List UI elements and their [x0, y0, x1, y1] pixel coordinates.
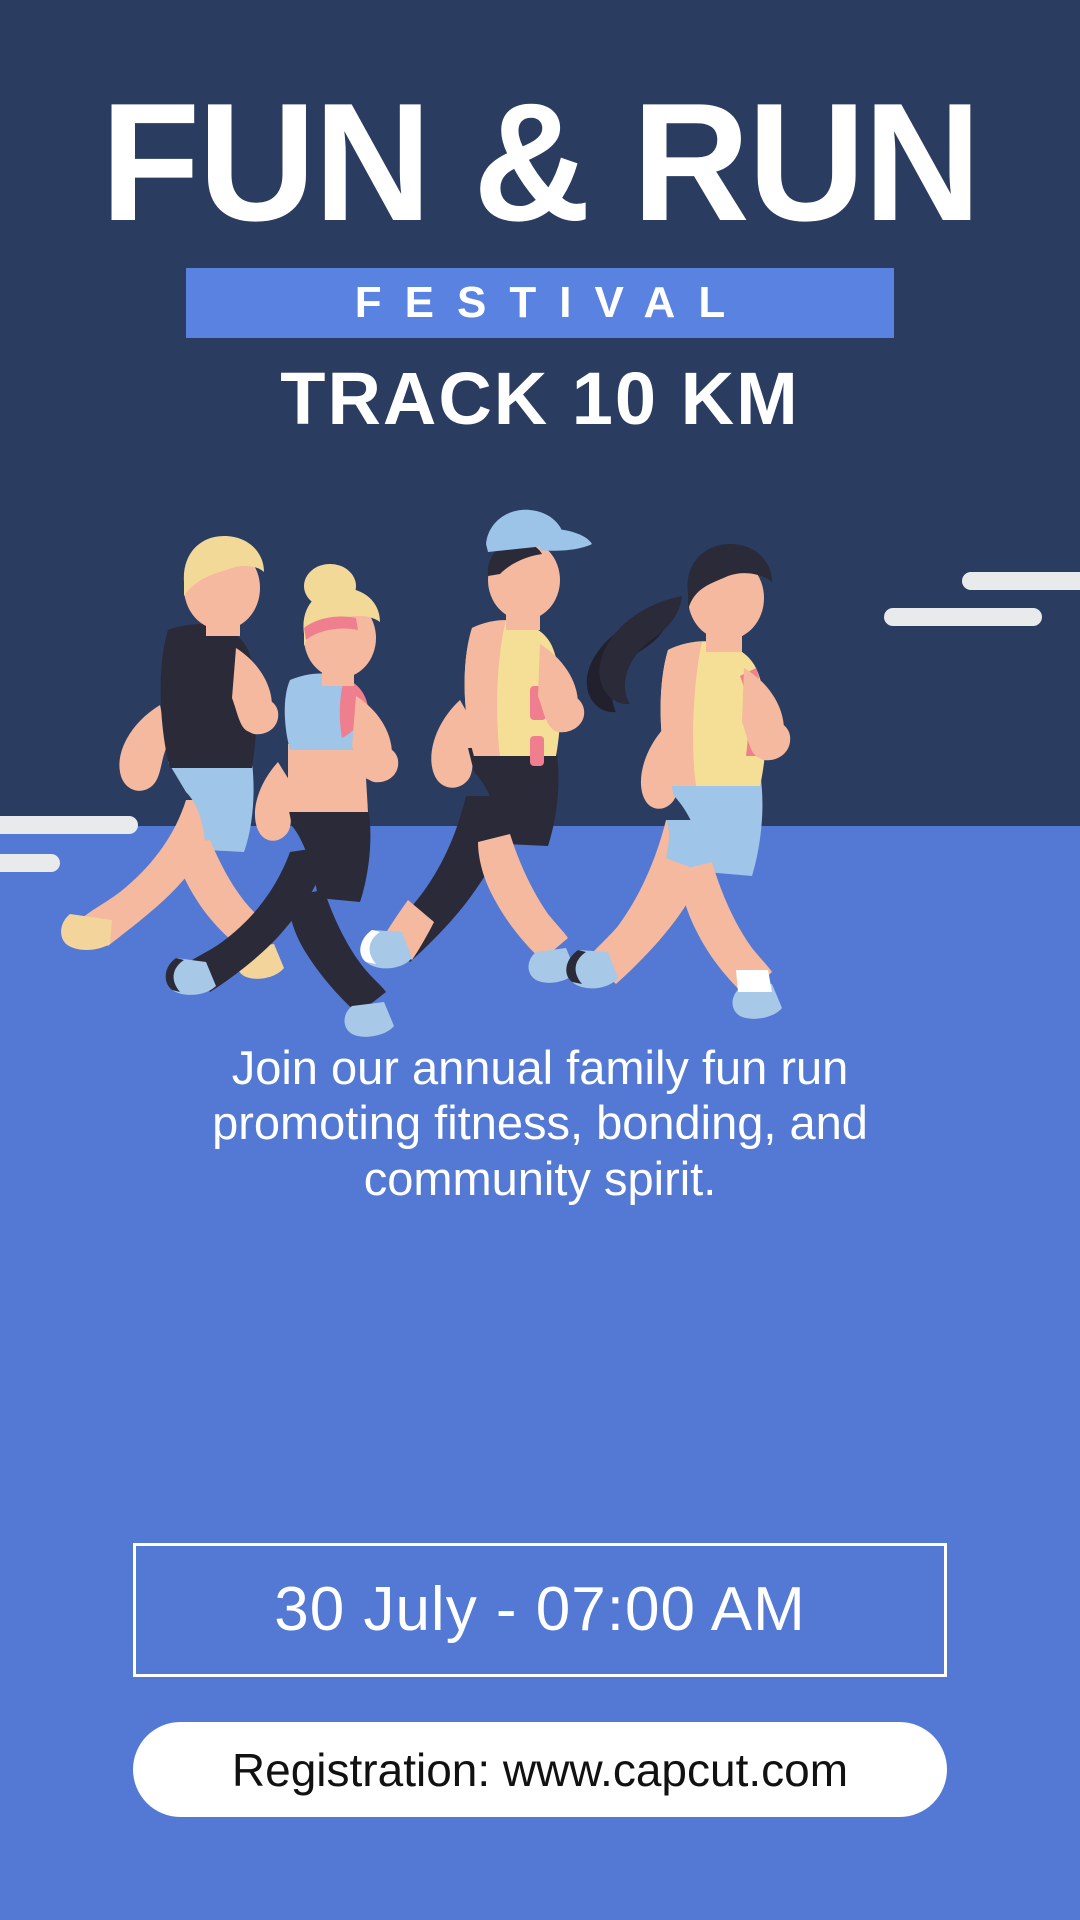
four-runners-illustration: [0, 500, 1080, 1040]
runner-1-fist: [243, 697, 278, 734]
registration-label: Registration: www.capcut.com: [232, 1747, 848, 1793]
runner-4-woman-dark-ponytail-yellow-shirt: [566, 544, 790, 1019]
event-datetime-text: 30 July - 07:00 AM: [274, 1579, 806, 1641]
runner-2-bun: [304, 564, 356, 608]
runner-4-sock-front: [736, 970, 772, 992]
description-line-1: Join our annual family fun run: [90, 1040, 990, 1095]
runner-1-shoe-back: [61, 914, 112, 950]
runner-4-fist: [752, 719, 791, 760]
description-line-2: promoting fitness, bonding, and: [90, 1095, 990, 1150]
description-line-3: community spirit.: [90, 1151, 990, 1206]
runner-2-fist: [363, 745, 398, 782]
runner-2-shoe-front: [345, 1002, 395, 1037]
event-datetime-box: 30 July - 07:00 AM: [133, 1543, 947, 1677]
festival-label: FESTIVAL: [332, 281, 748, 325]
event-description: Join our annual family fun run promoting…: [90, 1040, 990, 1206]
runner-3-fist: [547, 693, 584, 732]
runner-3-man-blue-cap-yellow-tank: [360, 510, 592, 983]
runner-1-man-blond-dark-shirt: [61, 536, 284, 979]
registration-button[interactable]: Registration: www.capcut.com: [133, 1722, 947, 1817]
festival-band: FESTIVAL: [186, 268, 894, 338]
poster-subtitle: TRACK 10 KM: [0, 356, 1080, 441]
runner-3-cap-brim: [540, 528, 592, 551]
poster-root: FUN & RUN FESTIVAL TRACK 10 KM: [0, 0, 1080, 1920]
poster-title: FUN & RUN: [16, 78, 1064, 246]
